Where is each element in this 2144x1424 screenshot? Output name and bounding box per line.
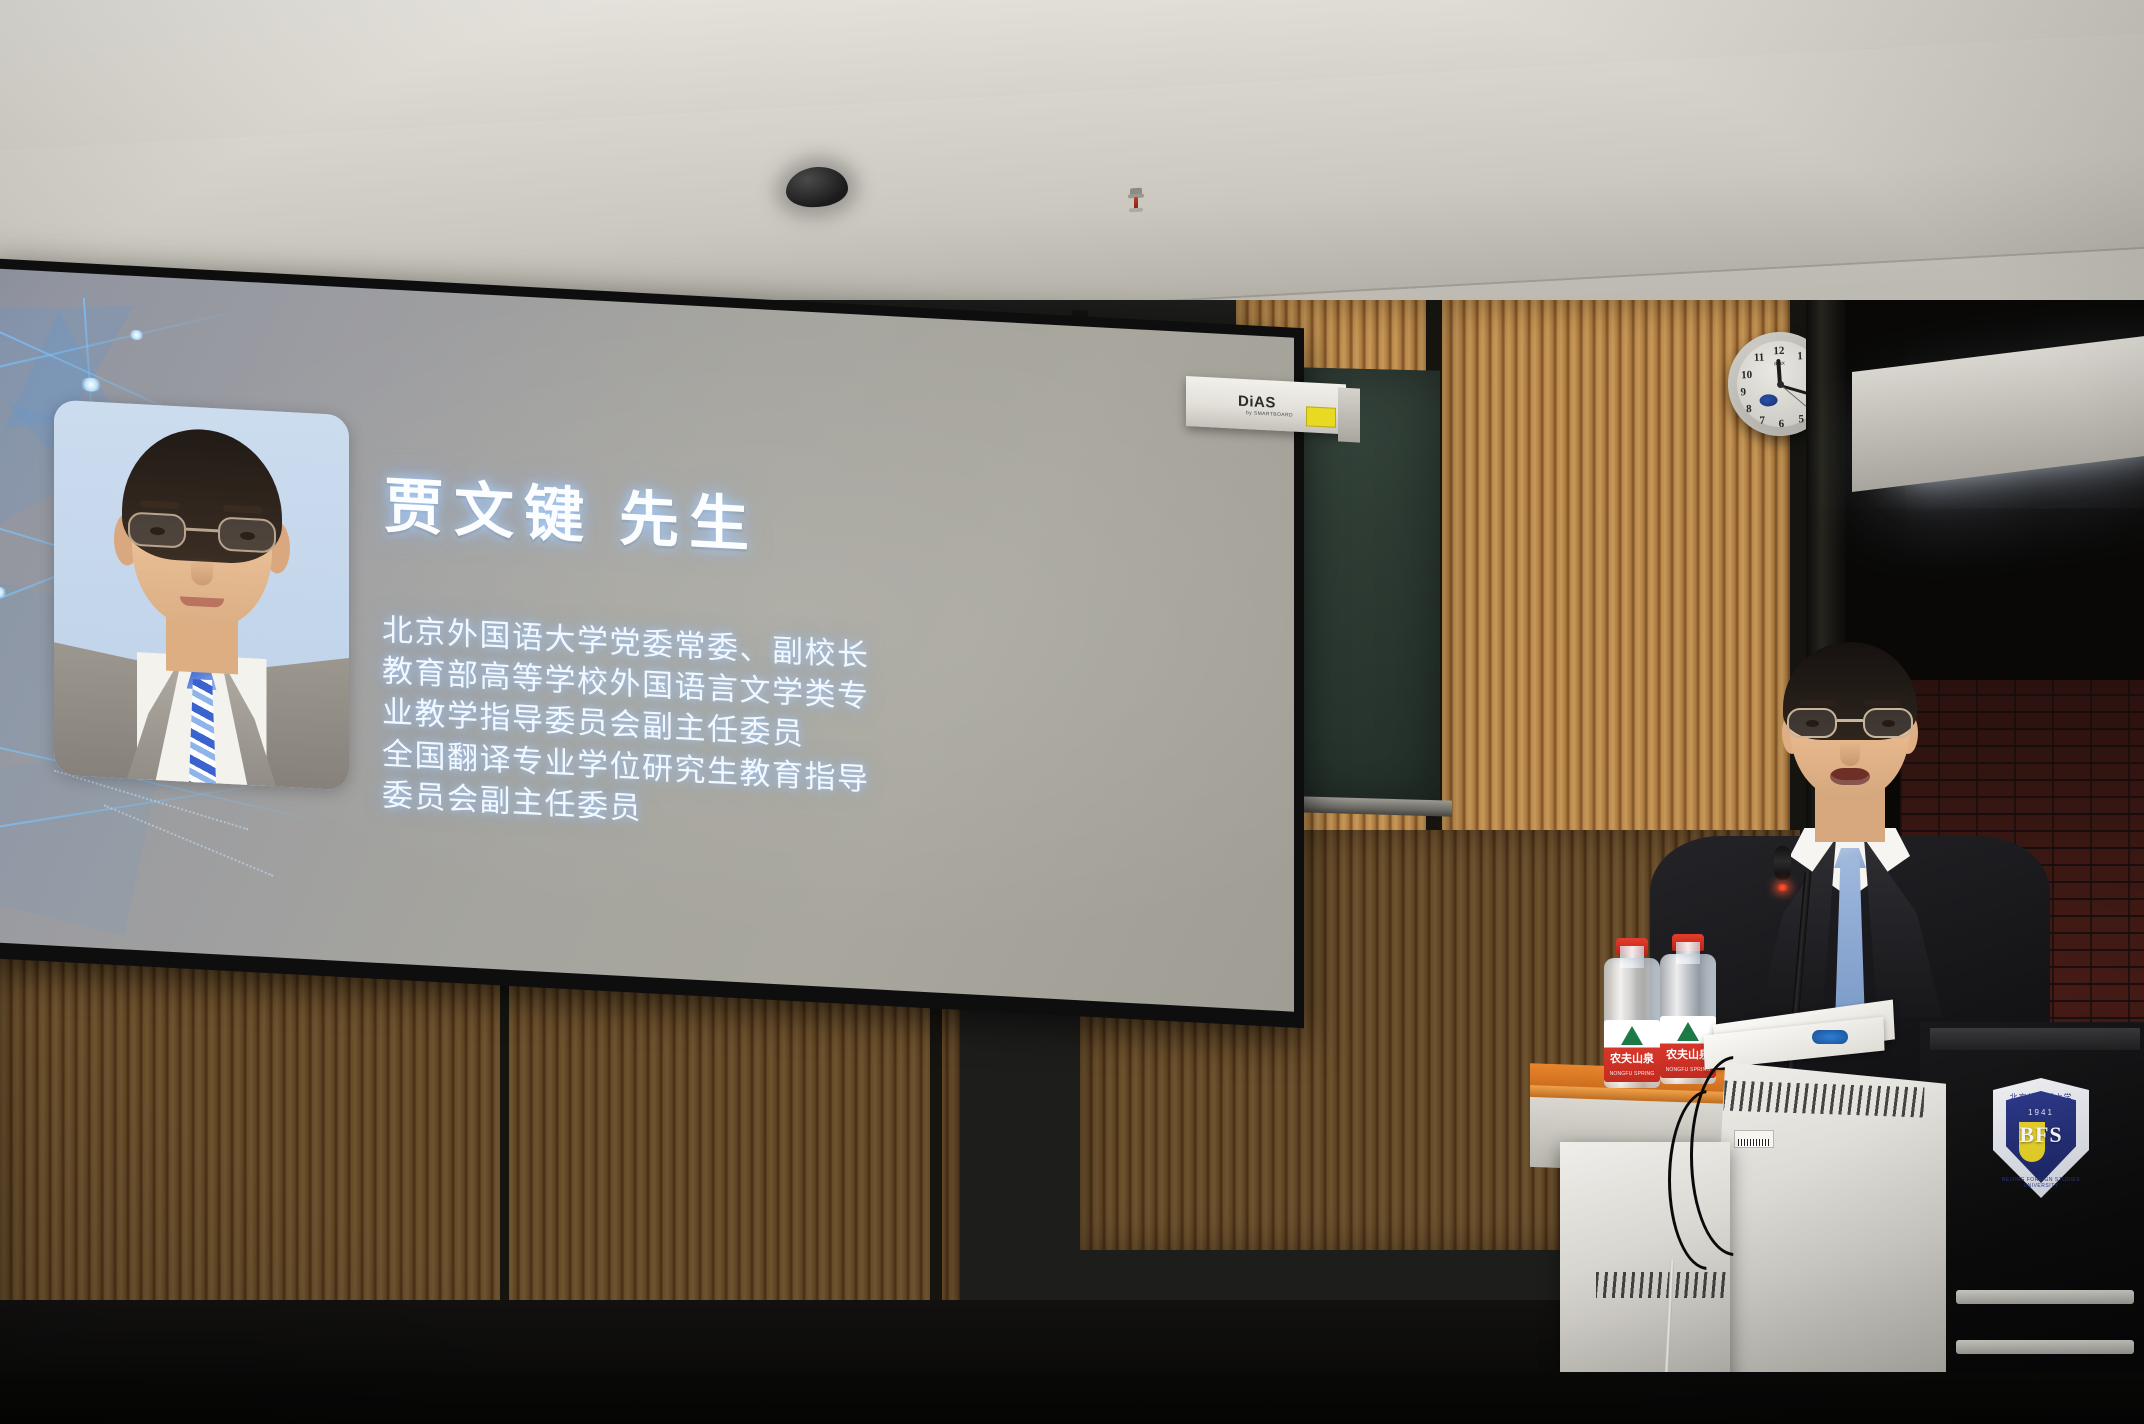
asset-tag-barcode [1738, 1139, 1770, 1146]
crest-chinese-name: 北京外国语大学 [1993, 1092, 2089, 1103]
housing-brand-sub: by SMARTBOARD [1246, 410, 1293, 418]
water-bottle: 农夫山泉 NONGFU SPRING [1604, 938, 1660, 1088]
screen-surface: 贾文键 先生 北京外国语大学党委常委、副校长 教育部高等学校外国语言文学类专 业… [0, 268, 1294, 1011]
portrait-lens-left [128, 512, 186, 549]
portrait-nose [191, 557, 213, 586]
crest-letters: BFS [1993, 1122, 2089, 1148]
portrait-eye-right [240, 532, 255, 541]
fire-sprinkler-icon [1128, 188, 1144, 215]
bottle-label: 农夫山泉 NONGFU SPRING [1604, 1020, 1660, 1082]
monitor-vent [1724, 1081, 1925, 1118]
speaker-brow-right [1864, 700, 1900, 706]
clock-numeral: 7 [1755, 413, 1769, 427]
foreground-shadow [0, 1372, 2144, 1424]
portrait-glasses-bridge [186, 528, 218, 532]
projection-screen: 贾文键 先生 北京外国语大学党委常委、副校长 教育部高等学校外国语言文学类专 业… [0, 258, 1304, 1028]
portrait-eye-left [150, 527, 165, 536]
clock-center-pin [1776, 380, 1783, 387]
speaker-eye-right [1882, 720, 1895, 727]
slide-portrait-photo [54, 400, 349, 791]
sprinkler-deflector [1129, 208, 1143, 213]
speaker-lens-left [1787, 708, 1837, 738]
slide-title: 贾文键 先生 [384, 457, 759, 564]
crest-english-name: BEIJING FOREIGN STUDIES UNIVERSITY [1993, 1177, 2089, 1189]
clock-numeral: 11 [1752, 350, 1766, 364]
clock-logo-icon [1759, 394, 1777, 407]
lectern-top-edge [1930, 1028, 2140, 1050]
housing-warning-sticker [1306, 406, 1336, 428]
speaker-glasses-bridge [1837, 719, 1863, 722]
clock-numeral: 12 [1772, 344, 1786, 358]
bottle-body: 农夫山泉 NONGFU SPRING [1604, 958, 1660, 1088]
bottle-brand: 农夫山泉 [1604, 1050, 1660, 1066]
slide-body-text: 北京外国语大学党委常委、副校长 教育部高等学校外国语言文学类专 业教学指导委员会… [382, 609, 902, 843]
bottle-brand-sub: NONGFU SPRING [1604, 1071, 1660, 1077]
speaker-nose [1840, 742, 1860, 766]
monitor-rear-panel [1706, 1062, 1946, 1424]
speaker-brow-left [1800, 700, 1836, 706]
microphone-head [1774, 846, 1791, 880]
speaker-eye-left [1806, 720, 1819, 727]
portrait-lens-right [218, 516, 276, 553]
bfsu-crest-logo: 北京外国语大学 1941 BFS BEIJING FOREIGN STUDIES… [1993, 1078, 2089, 1198]
monitor-vent [1596, 1272, 1726, 1298]
lectern-rail [1956, 1290, 2134, 1304]
bottle-tree-icon [1621, 1026, 1643, 1045]
projector-screen-housing: DiAS by SMARTBOARD [1186, 376, 1346, 434]
asset-tag-label [1734, 1130, 1774, 1148]
lecture-hall-photo: 白 粉 笔 无尘环保型书写粉笔 中华牌 12 1 2 3 4 5 6 7 8 9… [0, 0, 2144, 1424]
clock-numeral: 6 [1774, 417, 1788, 431]
clock-numeral: 8 [1742, 402, 1756, 416]
speaker-glasses-icon [1787, 708, 1913, 740]
blue-clip [1812, 1030, 1848, 1044]
clock-numeral: 10 [1739, 368, 1753, 382]
housing-brand-label: DiAS [1238, 393, 1276, 412]
speaker-lens-right [1863, 708, 1913, 738]
crest-year: 1941 [1993, 1108, 2089, 1117]
bottle-tree-icon [1677, 1022, 1699, 1041]
speaker-mouth [1830, 768, 1870, 785]
network-node [129, 330, 144, 341]
lectern-rail [1956, 1340, 2134, 1354]
clock-numeral: 9 [1736, 385, 1750, 399]
microphone-active-led [1777, 884, 1788, 891]
slide: 贾文键 先生 北京外国语大学党委常委、副校长 教育部高等学校外国语言文学类专 业… [0, 268, 1294, 1011]
screen-housing-endcap [1338, 387, 1360, 442]
